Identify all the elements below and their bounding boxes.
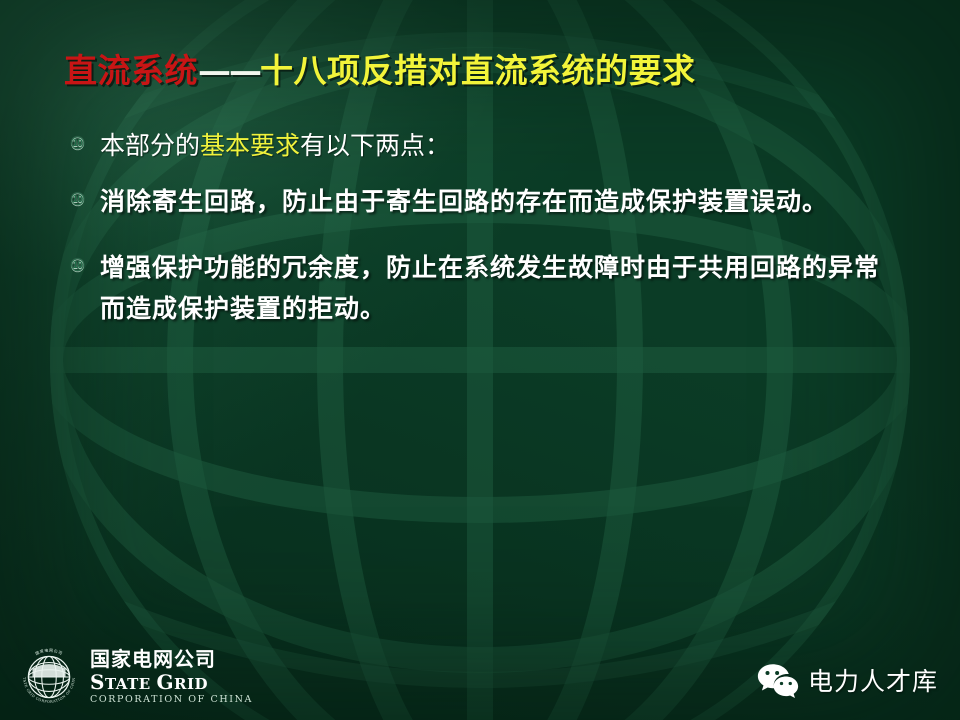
bullet-marker-icon: ⑩: [70, 182, 100, 209]
wechat-label: 电力人才库: [808, 662, 938, 698]
state-grid-en-s: S: [90, 670, 105, 694]
bullet-text-1: 本部分的基本要求有以下两点：: [100, 128, 900, 164]
bullet-item-2: ⑩ 消除寄生回路，防止由于寄生回路的存在而造成保护装置误动。: [70, 182, 900, 223]
bullet-marker-icon: ⑩: [70, 248, 100, 275]
bullet-item-1: ⑩ 本部分的基本要求有以下两点：: [70, 128, 900, 164]
slide-body: ⑩ 本部分的基本要求有以下两点： ⑩ 消除寄生回路，防止由于寄生回路的存在而造成…: [70, 128, 900, 355]
background-globe-watermark: [0, 0, 960, 720]
bullet-segment-highlight: 基本要求: [200, 131, 300, 160]
bullet-segment-plain-a: 本部分的: [100, 131, 200, 160]
state-grid-chinese-name: 国家电网公司: [90, 649, 253, 669]
state-grid-globe-icon: 国家电网公司 STATE GRID CORPORATION OF CHINA: [18, 646, 80, 708]
state-grid-en-rid: RID: [174, 675, 208, 693]
wechat-icon: [757, 662, 799, 698]
state-grid-english-name: STATE GRID: [90, 672, 253, 692]
state-grid-logo: 国家电网公司 STATE GRID CORPORATION OF CHINA 国…: [18, 646, 253, 708]
title-yellow-text: 十八项反措对直流系统的要求: [260, 51, 696, 90]
wechat-watermark: 电力人才库: [757, 662, 938, 698]
slide-canvas: 直流系统——十八项反措对直流系统的要求 ⑩ 本部分的基本要求有以下两点： ⑩ 消…: [0, 0, 960, 720]
state-grid-en-tate: TATE: [105, 675, 156, 693]
slide-title: 直流系统——十八项反措对直流系统的要求: [64, 52, 696, 90]
state-grid-subtitle: CORPORATION OF CHINA: [90, 695, 253, 705]
state-grid-en-g: G: [156, 670, 174, 694]
bullet-item-3: ⑩ 增强保护功能的冗余度，防止在系统发生故障时由于共用回路的异常而造成保护装置的…: [70, 248, 900, 329]
bullet-text-3: 增强保护功能的冗余度，防止在系统发生故障时由于共用回路的异常而造成保护装置的拒动…: [100, 248, 900, 329]
title-dash: ——: [198, 51, 260, 90]
svg-text:国家电网公司: 国家电网公司: [34, 648, 63, 656]
bullet-text-2: 消除寄生回路，防止由于寄生回路的存在而造成保护装置误动。: [100, 182, 900, 223]
bullet-marker-icon: ⑩: [70, 128, 100, 153]
title-red-text: 直流系统: [64, 51, 198, 90]
bullet-segment-plain-b: 有以下两点：: [300, 131, 450, 160]
state-grid-wordmark: 国家电网公司 STATE GRID CORPORATION OF CHINA: [90, 649, 253, 705]
